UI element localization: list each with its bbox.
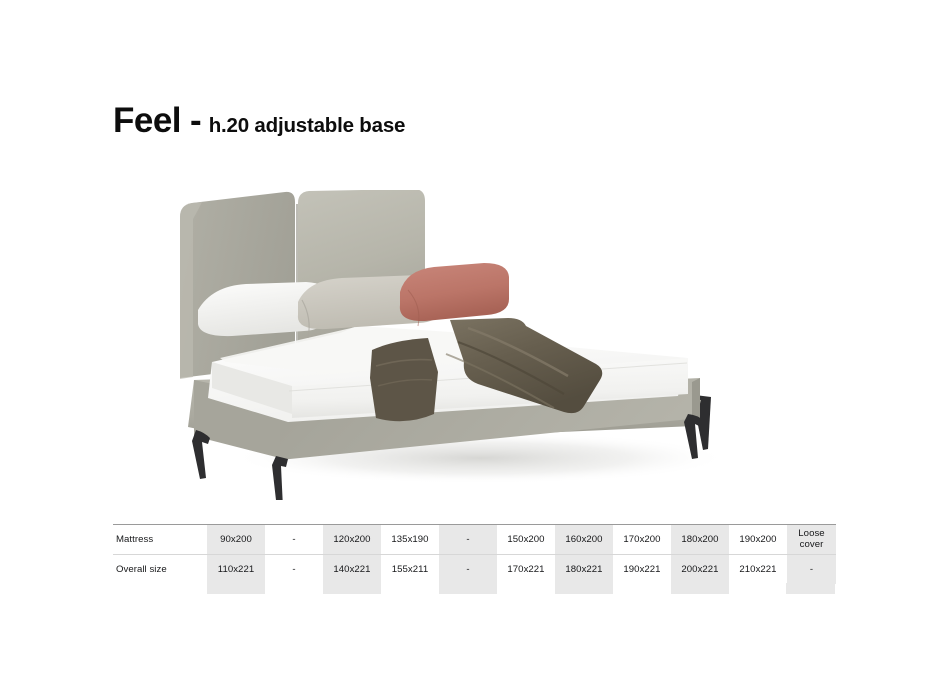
cell-mattress-5: - [439, 525, 497, 555]
cell-overall-5: - [439, 555, 497, 585]
table-row-overall-size: Overall size 110x221 - 140x221 155x211 -… [113, 555, 836, 585]
page-title: Feel - h.20 adjustable base [113, 103, 405, 138]
bed-leg-front-mid [272, 456, 288, 500]
cell-overall-7: 180x221 [555, 555, 613, 585]
cell-overall-8: 190x221 [613, 555, 671, 585]
loose-cover-line-1: Loose [787, 529, 836, 539]
cell-mattress-4: 135x190 [381, 525, 439, 555]
cell-mattress-1: 90x200 [207, 525, 265, 555]
shaded-column-tails [113, 583, 835, 594]
bed-leg-front-left [192, 430, 210, 479]
product-sheet-page: Feel - h.20 adjustable base [0, 0, 934, 700]
page-title-main: Feel [113, 103, 181, 138]
cell-overall-1: 110x221 [207, 555, 265, 585]
shade-tail-5 [439, 583, 497, 594]
cell-mattress-6: 150x200 [497, 525, 555, 555]
shade-tail-9 [671, 583, 729, 594]
product-photo [150, 190, 770, 500]
page-title-subtitle: h.20 adjustable base [209, 116, 406, 137]
cell-overall-3: 140x221 [323, 555, 381, 585]
specification-table: Mattress 90x200 - 120x200 135x190 - 150x… [113, 524, 835, 584]
cell-overall-4: 155x211 [381, 555, 439, 585]
cell-overall-6: 170x221 [497, 555, 555, 585]
bed-illustration [150, 190, 770, 500]
page-title-dash: - [190, 103, 202, 138]
cell-overall-2: - [265, 555, 323, 585]
loose-cover-line-2: cover [787, 540, 836, 550]
shade-tail-1 [207, 583, 265, 594]
shade-tail-7 [555, 583, 613, 594]
row-label-mattress: Mattress [113, 525, 207, 555]
shade-tail-3 [323, 583, 381, 594]
cell-mattress-10: 190x200 [729, 525, 787, 555]
shade-tail-11 [786, 583, 835, 594]
spec-table-element: Mattress 90x200 - 120x200 135x190 - 150x… [113, 524, 836, 584]
table-row-mattress: Mattress 90x200 - 120x200 135x190 - 150x… [113, 525, 836, 555]
cell-overall-10: 210x221 [729, 555, 787, 585]
cell-overall-9: 200x221 [671, 555, 729, 585]
cell-mattress-loose-cover: Loose cover [787, 525, 836, 555]
cell-mattress-2: - [265, 525, 323, 555]
cell-mattress-3: 120x200 [323, 525, 381, 555]
cell-overall-loose-cover: - [787, 555, 836, 585]
cell-mattress-8: 170x200 [613, 525, 671, 555]
cell-mattress-7: 160x200 [555, 525, 613, 555]
row-label-overall-size: Overall size [113, 555, 207, 585]
cell-mattress-9: 180x200 [671, 525, 729, 555]
